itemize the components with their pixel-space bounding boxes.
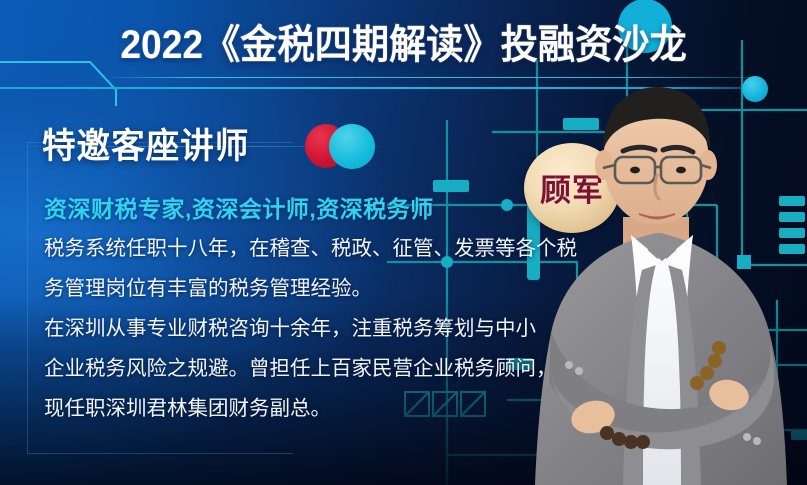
bio-line: 企业税务风险之规避。曾担任上百家民营企业税务顾问， [44,349,584,389]
speaker-portrait [511,65,807,485]
bio-line: 在深圳从事专业财税咨询十余年，注重税务筹划与中小 [44,309,584,349]
credentials-line: 资深财税专家,资深会计师,资深税务师 [44,190,434,224]
title-bar: 2022《金税四期解读》投融资沙龙 [0,12,807,70]
kicker-heading: 特邀客座讲师 [42,118,249,169]
biography-block: 税务系统任职十八年，在稽查、税政、征管、发票等各个税 务管理岗位有丰富的税务管理… [44,229,584,429]
bio-line: 务管理岗位有丰富的税务管理经验。 [44,269,584,309]
page-title: 2022《金税四期解读》投融资沙龙 [120,12,686,70]
cyan-circle-icon [329,124,375,169]
dual-circle-accent [305,124,385,170]
bio-line: 税务系统任职十八年，在稽查、税政、征管、发票等各个税 [44,229,584,269]
bio-line: 现任职深圳君林集团财务副总。 [44,389,584,429]
poster-canvas: 2022《金税四期解读》投融资沙龙 特邀客座讲师 资深财税专家,资深会计师,资深… [0,0,807,485]
